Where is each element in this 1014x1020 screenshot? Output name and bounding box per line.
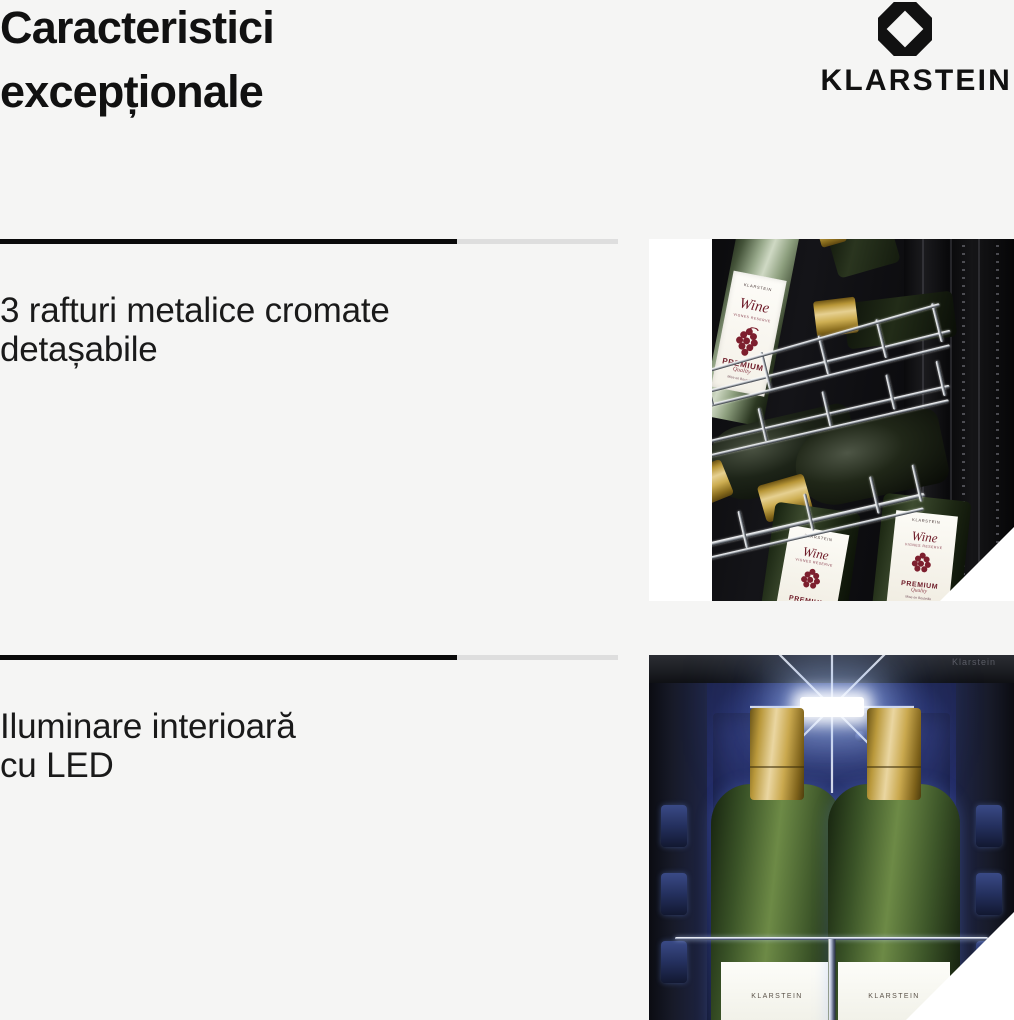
klarstein-octagon-icon xyxy=(878,2,932,56)
bottle-cap xyxy=(813,297,859,338)
wine-label: KLARSTEIN Wine VIGNES RESERVE PREMIUM Qu… xyxy=(774,525,849,601)
feature-divider xyxy=(0,655,618,660)
bottle-cap xyxy=(750,708,804,800)
photo-white-margin xyxy=(649,239,712,601)
led-interior-photo: Klarstein xyxy=(649,655,1014,1020)
wine-bottle: KLARSTEIN Wine VIGNES RESERVE PREMIUM Qu… xyxy=(759,502,861,601)
wine-bottle: KLARSTEIN xyxy=(711,784,843,1020)
grapes-icon xyxy=(907,550,936,581)
brand-wordmark: KLARSTEIN xyxy=(797,64,1012,98)
feature-image-shelves: KLARSTEIN Wine VIGNES RESERVE PREMIUM Q xyxy=(649,239,1014,601)
feature-image-led: Klarstein xyxy=(649,655,1014,1020)
top-frame-text: Klarstein xyxy=(952,657,996,667)
page-header: Caracteristici excepționale KLARSTEIN xyxy=(0,0,1014,230)
grapes-icon xyxy=(796,565,826,597)
feature-text-led: Iluminare interioară cu LED xyxy=(0,707,600,785)
screw xyxy=(855,731,866,742)
brand-logo: KLARSTEIN xyxy=(797,2,1012,98)
chrome-center-post xyxy=(828,939,835,1020)
corner-cut xyxy=(904,910,1014,1020)
led-light xyxy=(800,697,864,717)
corner-cut xyxy=(938,525,1014,601)
grapes-icon xyxy=(729,324,765,361)
bottle-label-text: KLARSTEIN xyxy=(751,993,803,1000)
wine-shelves-photo: KLARSTEIN Wine VIGNES RESERVE PREMIUM Q xyxy=(649,239,1014,601)
feature-page: Caracteristici excepționale KLARSTEIN 3 … xyxy=(0,0,1014,1020)
page-title: Caracteristici excepționale xyxy=(0,0,560,124)
cooler-top-frame: Klarstein xyxy=(649,655,1014,685)
feature-text-shelves: 3 rafturi metalice cromate detașabile xyxy=(0,291,600,369)
bottle-cap xyxy=(867,708,921,800)
feature-divider xyxy=(0,239,618,244)
bottle-label: KLARSTEIN xyxy=(721,962,833,1020)
cooler-sidewall-left xyxy=(649,683,707,1020)
label-brand: KLARSTEIN xyxy=(731,279,785,294)
